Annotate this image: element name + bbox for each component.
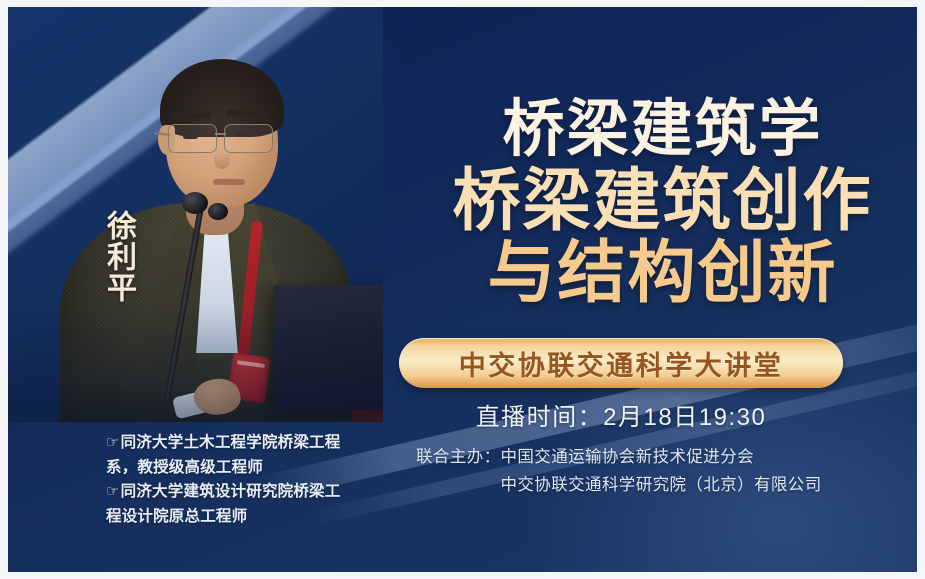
credential-text: 程设计院原总工程师 — [106, 508, 247, 525]
series-badge-label: 中交协联交通科学大讲堂 — [459, 344, 784, 383]
lens-right — [224, 124, 273, 153]
pointing-hand-icon: ☞ — [106, 434, 120, 451]
poster-background: 徐利平 ☞同济大学土木工程学院桥梁工程 系，教授级高级工程师 ☞同济大学建筑设计… — [8, 7, 917, 572]
organizers-list: 中国交通运输协会新技术促进分会 中交协联交通科学研究院（北京）有限公司 — [501, 443, 822, 499]
credential-line: ☞同济大学建筑设计研究院桥梁工 — [106, 480, 406, 504]
laptop — [273, 285, 383, 409]
title-line-3: 与结构创新 — [400, 239, 917, 307]
glasses-bridge — [215, 133, 226, 135]
credential-line: 程设计院原总工程师 — [106, 505, 406, 529]
lecture-title: 桥梁建筑学 桥梁建筑创作 与结构创新 — [400, 99, 917, 307]
series-badge: 中交协联交通科学大讲堂 — [399, 338, 843, 388]
speaker-photo — [8, 7, 383, 422]
glasses-temple — [154, 132, 170, 136]
microphone-head — [182, 192, 208, 214]
credential-text: 系，教授级高级工程师 — [106, 459, 263, 476]
speaker-figure — [8, 7, 383, 422]
title-line-1: 桥梁建筑学 — [400, 99, 917, 161]
nose — [214, 139, 230, 169]
microphone-head-secondary — [208, 203, 228, 220]
pointing-hand-icon: ☞ — [106, 483, 120, 500]
organizer-item: 中交协联交通科学研究院（北京）有限公司 — [501, 471, 822, 499]
mouth — [213, 179, 245, 185]
credential-text: 同济大学土木工程学院桥梁工程 — [121, 434, 341, 451]
credential-line: 系，教授级高级工程师 — [106, 456, 406, 480]
speaker-credentials: ☞同济大学土木工程学院桥梁工程 系，教授级高级工程师 ☞同济大学建筑设计研究院桥… — [106, 431, 406, 530]
organizers-row: 联合主办： 中国交通运输协会新技术促进分会 中交协联交通科学研究院（北京）有限公… — [416, 443, 916, 499]
credential-text: 同济大学建筑设计研究院桥梁工 — [121, 483, 341, 500]
organizers: 联合主办： 中国交通运输协会新技术促进分会 中交协联交通科学研究院（北京）有限公… — [416, 443, 916, 499]
credential-line: ☞同济大学土木工程学院桥梁工程 — [106, 431, 406, 455]
lens-left — [168, 124, 217, 153]
title-line-2: 桥梁建筑创作 — [400, 167, 917, 235]
live-time: 直播时间：2月18日19:30 — [399, 397, 843, 432]
poster-canvas: 徐利平 ☞同济大学土木工程学院桥梁工程 系，教授级高级工程师 ☞同济大学建筑设计… — [0, 0, 925, 579]
speaker-name: 徐利平 — [92, 210, 134, 303]
organizer-item: 中国交通运输协会新技术促进分会 — [501, 443, 822, 471]
organizers-label: 联合主办： — [416, 443, 501, 499]
